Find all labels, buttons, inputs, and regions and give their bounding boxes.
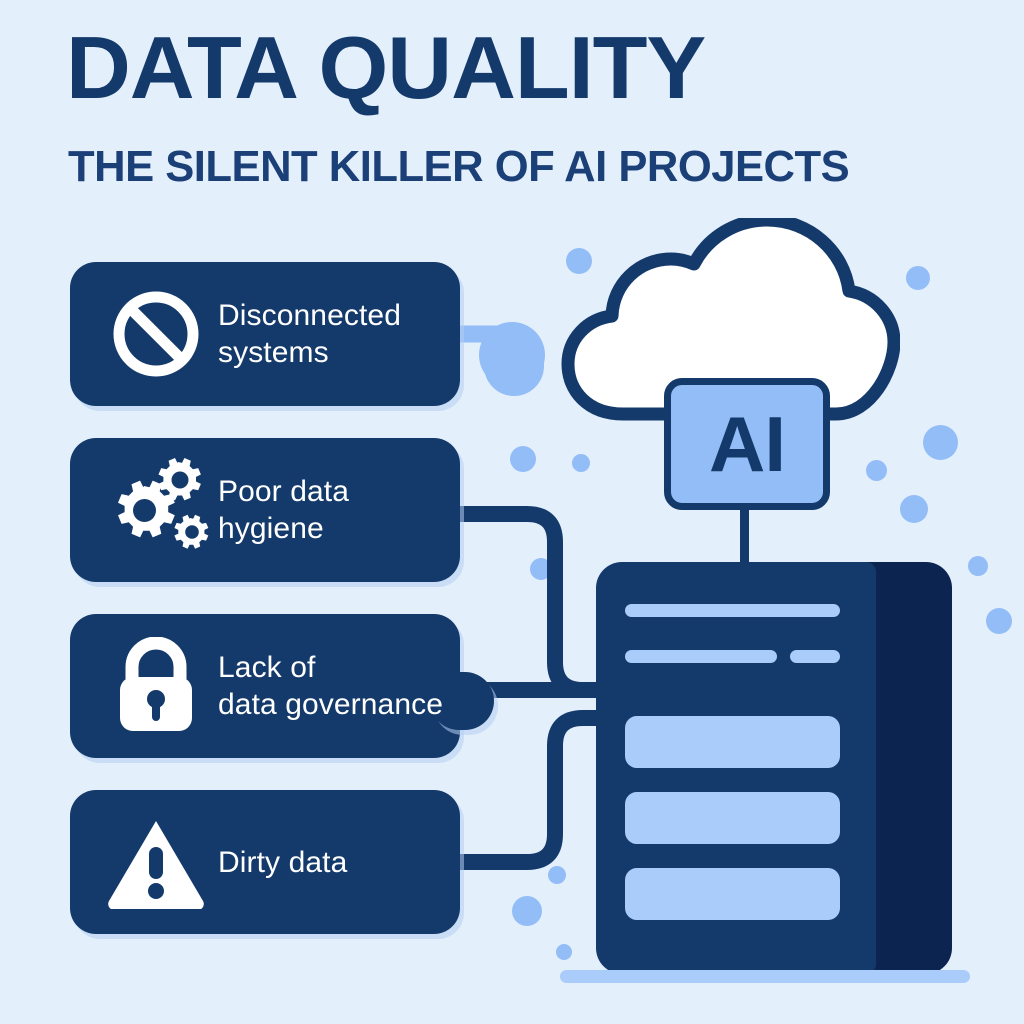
issue-card-label: Poor data hygiene — [218, 473, 349, 547]
decorative-dot — [572, 454, 590, 472]
issue-card-label: Dirty data — [218, 844, 347, 881]
database-baseline — [560, 970, 970, 983]
issue-card-poor-data-hygiene[interactable]: Poor data hygiene — [70, 438, 460, 582]
gears-icon — [98, 438, 214, 582]
decorative-dot — [866, 460, 887, 481]
decorative-dot — [906, 266, 930, 290]
database-text-line — [625, 604, 840, 617]
decorative-dot — [512, 896, 542, 926]
decorative-dot — [556, 944, 572, 960]
decorative-dot — [510, 446, 536, 472]
issue-card-label: Lack of data governance — [218, 649, 443, 723]
database-text-line — [625, 650, 777, 663]
database-text-line — [790, 650, 840, 663]
ai-badge-label: AI — [709, 405, 785, 483]
decorative-dot — [900, 495, 928, 523]
page-subtitle: THE SILENT KILLER OF AI PROJECTS — [68, 140, 849, 194]
issue-card-lack-of-data-governance[interactable]: Lack of data governance — [70, 614, 460, 758]
database-record-bar — [625, 716, 840, 768]
infographic-canvas: DATA QUALITY THE SILENT KILLER OF AI PRO… — [0, 0, 1024, 1024]
issue-card-disconnected-systems[interactable]: Disconnected systems — [70, 262, 460, 406]
warning-triangle-icon — [98, 790, 214, 934]
page-title: DATA QUALITY — [66, 16, 705, 120]
issue-card-label: Disconnected systems — [218, 297, 401, 371]
issue-card-dirty-data[interactable]: Dirty data — [70, 790, 460, 934]
ai-badge: AI — [664, 378, 830, 510]
decorative-dot — [548, 866, 566, 884]
decorative-dot — [530, 558, 552, 580]
database-record-bar — [625, 792, 840, 844]
padlock-icon — [98, 614, 214, 758]
prohibition-icon — [98, 262, 214, 406]
decorative-dot — [986, 608, 1012, 634]
decorative-dot — [484, 336, 544, 396]
database-record-bar — [625, 868, 840, 920]
decorative-dot — [923, 425, 958, 460]
decorative-dot — [968, 556, 988, 576]
cloud-to-database-stem — [740, 505, 749, 565]
